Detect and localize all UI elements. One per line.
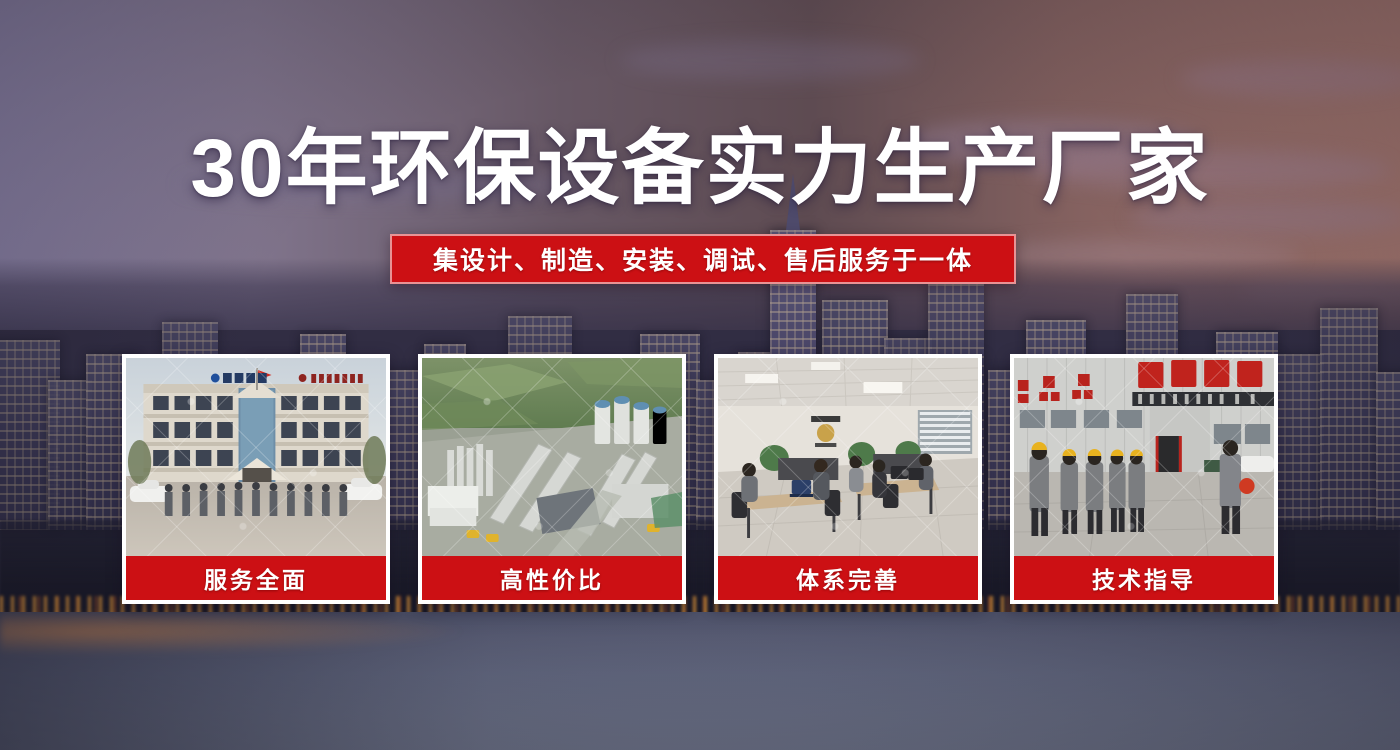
- card-caption-bar: 高性价比: [422, 556, 682, 600]
- card-caption-text: 技术指导: [1092, 561, 1196, 595]
- office-interior-illustration: [718, 358, 978, 556]
- card-caption-bar: 技术指导: [1014, 556, 1274, 600]
- feature-card[interactable]: 技术指导: [1010, 354, 1278, 604]
- workers-training-illustration: [1014, 358, 1274, 556]
- feature-card-row: 服务全面: [122, 354, 1278, 604]
- card-caption-text: 体系完善: [796, 561, 900, 595]
- page-title: 30年环保设备实力生产厂家: [0, 128, 1400, 210]
- feature-card[interactable]: 体系完善: [714, 354, 982, 604]
- subtitle-text: 集设计、制造、安装、调试、售后服务于一体: [433, 241, 973, 277]
- card-photo-office-interior: [718, 358, 978, 556]
- card-caption-text: 服务全面: [204, 561, 308, 595]
- card-caption-bar: 体系完善: [718, 556, 978, 600]
- card-photo-office-building: [126, 358, 386, 556]
- feature-card[interactable]: 高性价比: [418, 354, 686, 604]
- card-caption-text: 高性价比: [500, 561, 604, 595]
- hero-banner: 30年环保设备实力生产厂家 集设计、制造、安装、调试、售后服务于一体: [0, 0, 1400, 750]
- feature-card[interactable]: 服务全面: [122, 354, 390, 604]
- card-photo-aerial-plant: [422, 358, 682, 556]
- card-photo-workers-training: [1014, 358, 1274, 556]
- card-caption-bar: 服务全面: [126, 556, 386, 600]
- aerial-plant-illustration: [422, 358, 682, 556]
- subtitle-banner: 集设计、制造、安装、调试、售后服务于一体: [390, 234, 1016, 284]
- office-building-illustration: [126, 358, 386, 556]
